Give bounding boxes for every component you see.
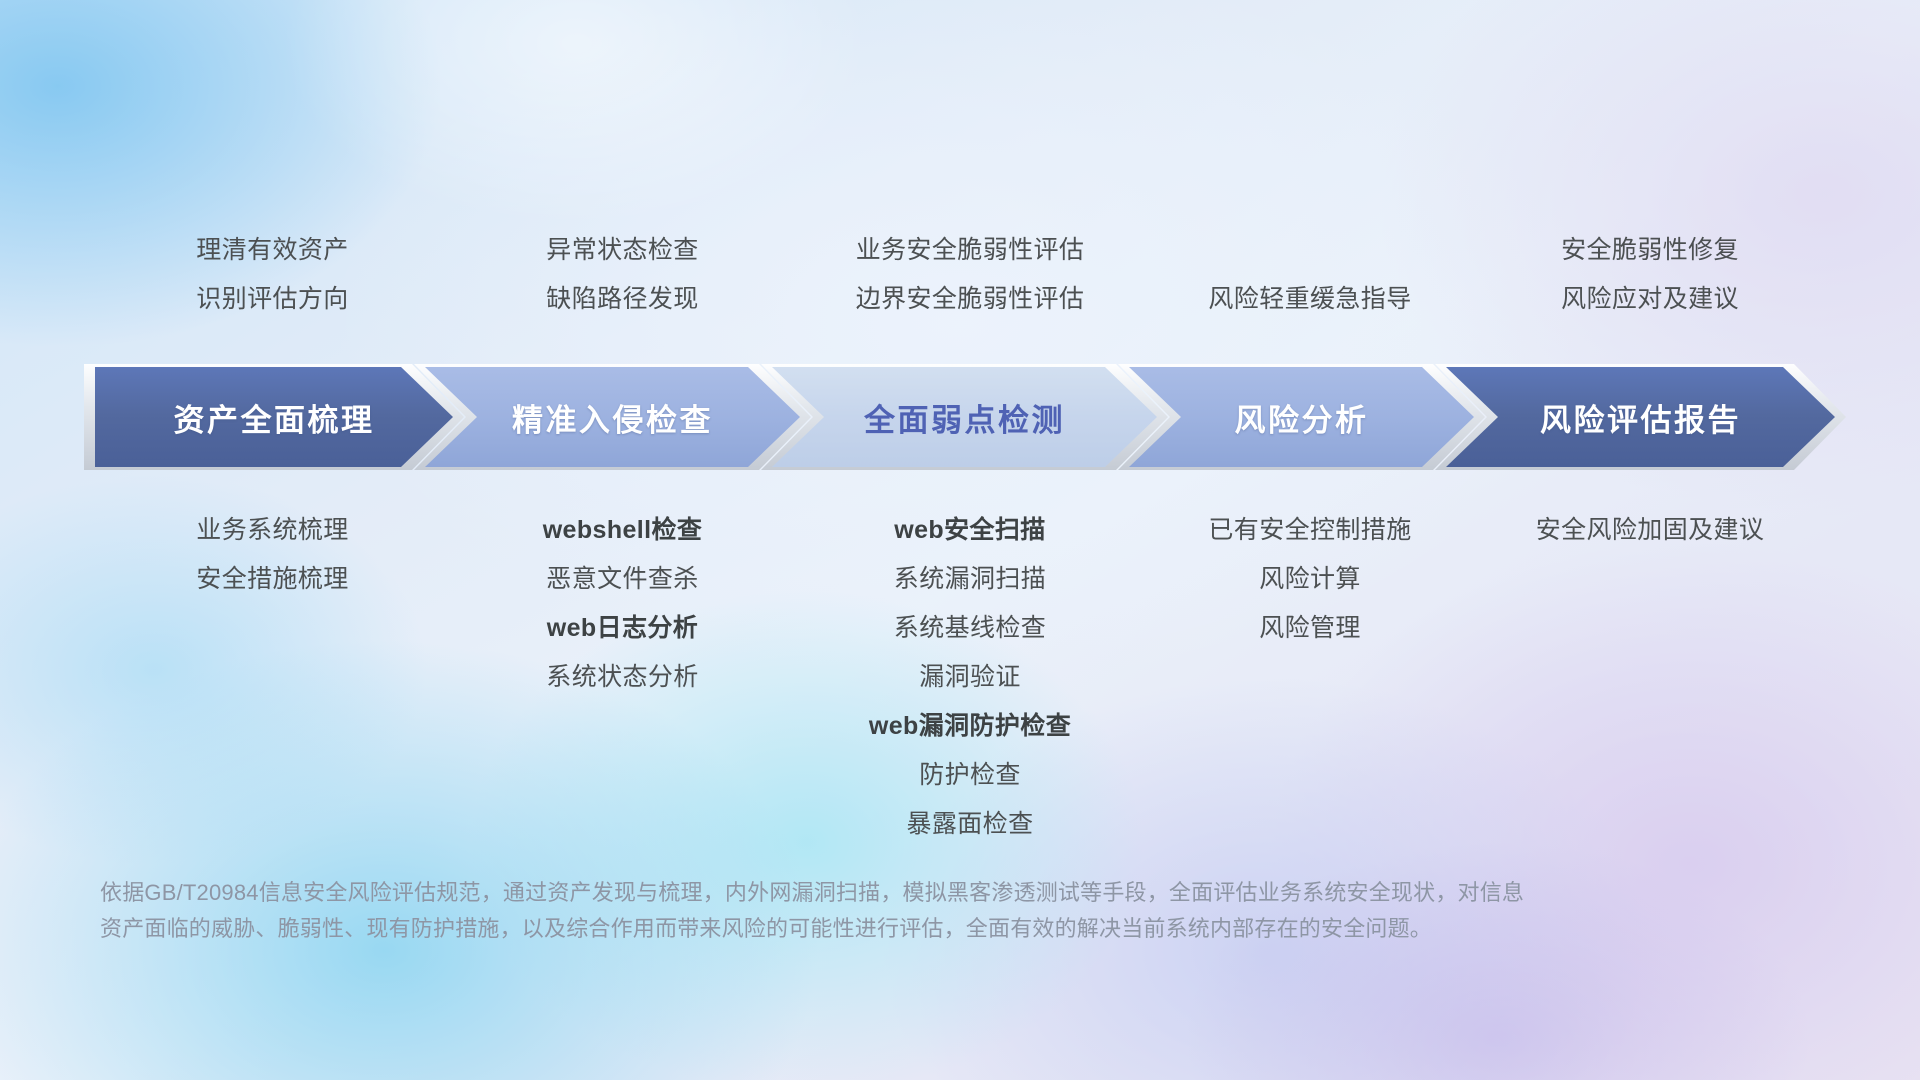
caption-text: web漏洞防护检查: [869, 702, 1071, 751]
caption-text: 风险计算: [1259, 555, 1361, 604]
chevron-label: 资产全面梳理: [174, 395, 375, 440]
caption-text: webshell检查: [543, 506, 703, 555]
caption-text: 系统状态分析: [546, 653, 698, 702]
top-captions-row: 理清有效资产 识别评估方向 异常状态检查 缺陷路径发现 业务安全脆弱性评估 边界…: [95, 226, 1825, 324]
caption-text: 恶意文件查杀: [546, 555, 698, 604]
caption-text: 防护检查: [919, 751, 1021, 800]
bottom-captions-stage-2: webshell检查 恶意文件查杀 web日志分析 系统状态分析: [450, 506, 795, 702]
top-captions-stage-4: 风险轻重缓急指导: [1145, 275, 1475, 324]
caption-text: 风险应对及建议: [1561, 275, 1739, 324]
caption-text: 业务系统梳理: [196, 506, 348, 555]
bottom-captions-stage-3: web安全扫描 系统漏洞扫描 系统基线检查 漏洞验证 web漏洞防护检查 防护检…: [795, 506, 1145, 849]
footer-line-1: 依据GB/T20984信息安全风险评估规范，通过资产发现与梳理，内外网漏洞扫描，…: [100, 875, 1630, 911]
chevron-label: 精准入侵检查: [512, 395, 713, 440]
top-captions-stage-5: 安全脆弱性修复 风险应对及建议: [1475, 226, 1825, 324]
chevron-stage-1[interactable]: 资产全面梳理: [95, 367, 453, 467]
bottom-captions-row: 业务系统梳理 安全措施梳理 webshell检查 恶意文件查杀 web日志分析 …: [95, 506, 1825, 849]
caption-text: 理清有效资产: [196, 226, 348, 275]
caption-text: web安全扫描: [894, 506, 1045, 555]
caption-text: 漏洞验证: [919, 653, 1021, 702]
chevron-stage-2[interactable]: 精准入侵检查: [425, 367, 800, 467]
caption-text: 风险管理: [1259, 604, 1361, 653]
bottom-captions-stage-4: 已有安全控制措施 风险计算 风险管理: [1145, 506, 1475, 653]
top-captions-stage-2: 异常状态检查 缺陷路径发现: [450, 226, 795, 324]
caption-text: 业务安全脆弱性评估: [856, 226, 1085, 275]
caption-text: 安全脆弱性修复: [1561, 226, 1739, 275]
caption-text: 边界安全脆弱性评估: [856, 275, 1085, 324]
caption-text: 系统基线检查: [894, 604, 1046, 653]
bottom-captions-stage-1: 业务系统梳理 安全措施梳理: [95, 506, 450, 604]
top-captions-stage-3: 业务安全脆弱性评估 边界安全脆弱性评估: [795, 226, 1145, 324]
chevron-label: 风险分析: [1235, 395, 1369, 440]
process-diagram: 理清有效资产 识别评估方向 异常状态检查 缺陷路径发现 业务安全脆弱性评估 边界…: [0, 0, 1920, 1080]
caption-text: web日志分析: [547, 604, 698, 653]
caption-text: 安全风险加固及建议: [1536, 506, 1765, 555]
caption-text: 异常状态检查: [546, 226, 698, 275]
chevron-stage-3[interactable]: 全面弱点检测: [772, 367, 1157, 467]
caption-text: 识别评估方向: [196, 275, 348, 324]
chevron-stage-4[interactable]: 风险分析: [1129, 367, 1474, 467]
caption-text: 风险轻重缓急指导: [1208, 275, 1411, 324]
top-captions-stage-1: 理清有效资产 识别评估方向: [95, 226, 450, 324]
chevron-stage-5[interactable]: 风险评估报告: [1446, 367, 1835, 467]
chevron-label: 全面弱点检测: [864, 395, 1065, 440]
caption-text: 已有安全控制措施: [1208, 506, 1411, 555]
chevron-flow-band: 资产全面梳理 精准入侵检查 全面弱点检测 风险分析 风险评估报告: [95, 367, 1835, 467]
footer-description: 依据GB/T20984信息安全风险评估规范，通过资产发现与梳理，内外网漏洞扫描，…: [100, 875, 1630, 947]
footer-line-2: 资产面临的威胁、脆弱性、现有防护措施，以及综合作用而带来风险的可能性进行评估，全…: [100, 911, 1630, 947]
caption-text: 缺陷路径发现: [546, 275, 698, 324]
bottom-captions-stage-5: 安全风险加固及建议: [1475, 506, 1825, 555]
caption-text: 安全措施梳理: [196, 555, 348, 604]
caption-text: 暴露面检查: [906, 800, 1033, 849]
caption-text: 系统漏洞扫描: [894, 555, 1046, 604]
chevron-label: 风险评估报告: [1540, 395, 1741, 440]
